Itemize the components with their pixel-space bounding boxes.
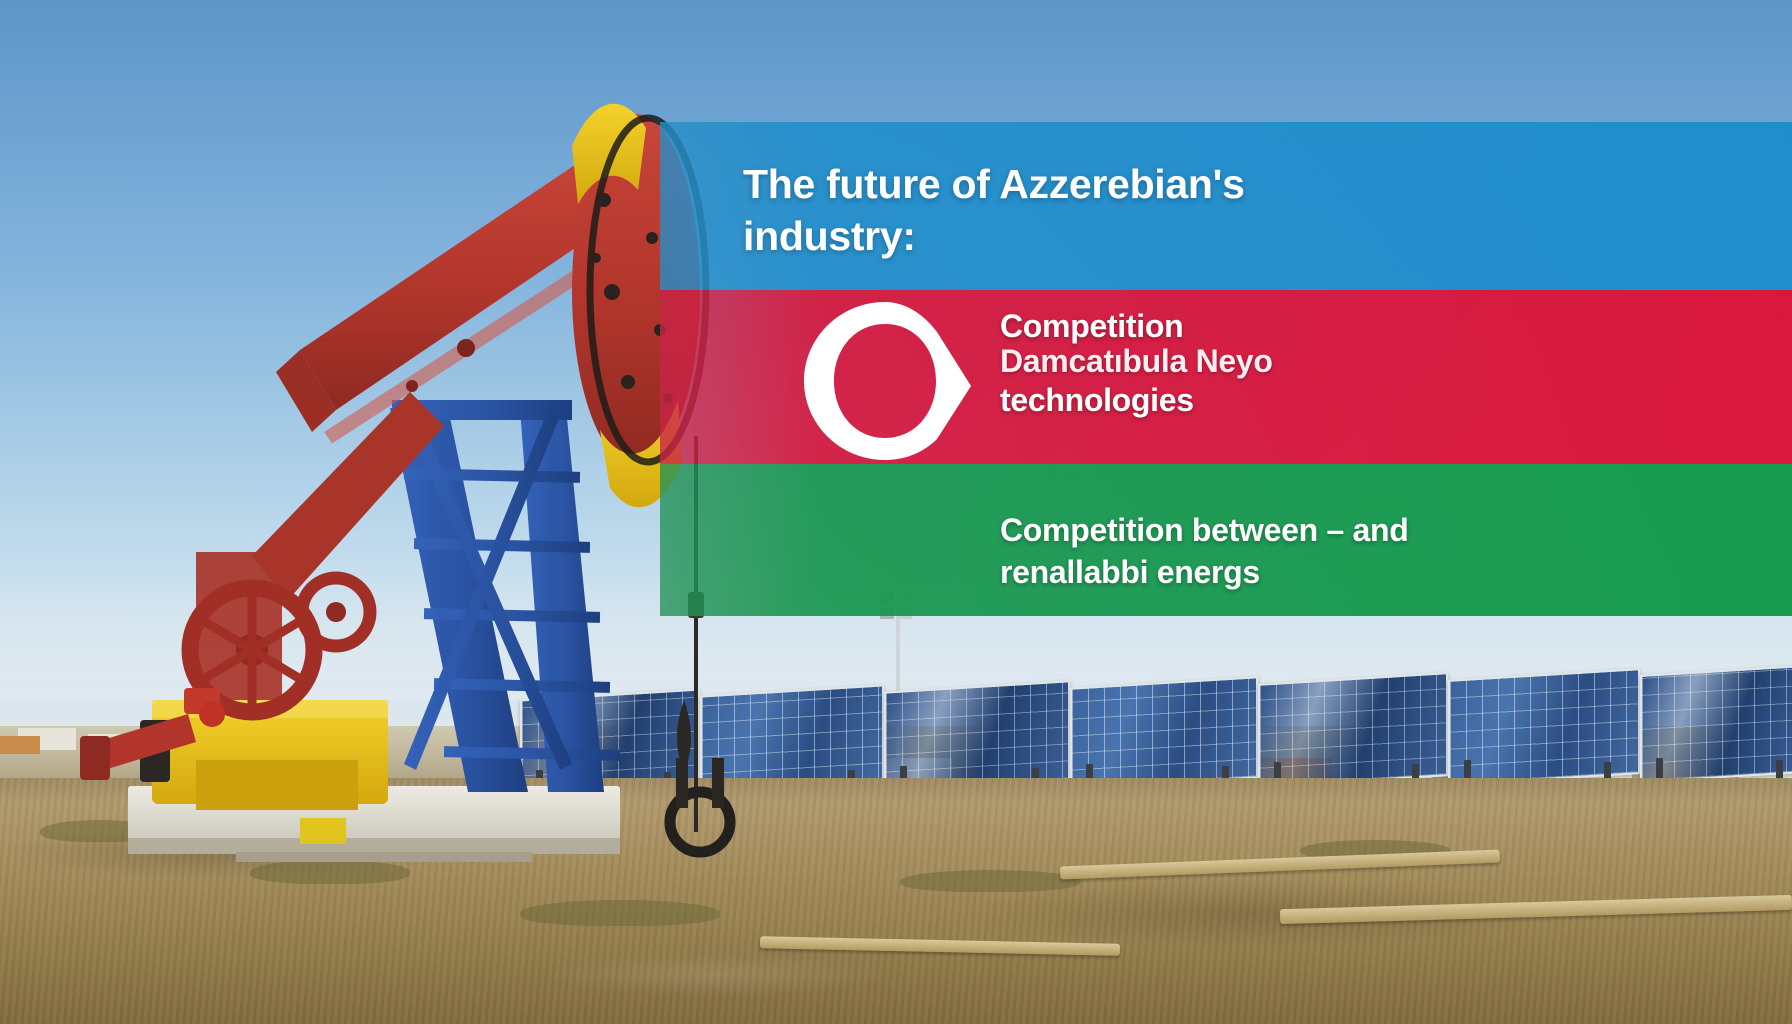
crescent-star-emblem-icon <box>788 298 978 464</box>
distant-building <box>212 732 282 754</box>
red-band-line-3: technologies <box>1000 381 1760 420</box>
green-band-text: Competition between – and renallabbi ene… <box>1000 510 1740 593</box>
green-band-line-2: renallabbi energs <box>1000 552 1740 594</box>
red-band-text: Competition Damcatıbula Neyo technologie… <box>1000 307 1760 420</box>
banner-title: The future of Azzerebian's industry: <box>743 158 1383 262</box>
ground-scrub <box>40 820 160 842</box>
distant-building <box>140 738 202 754</box>
foreground-dirt <box>0 778 1792 1024</box>
green-band-line-1: Competition between – and <box>1000 510 1740 552</box>
ground-scrub <box>520 900 720 926</box>
screenshot-canvas: The future of Azzerebian's industry: Com… <box>0 0 1792 1024</box>
ground-scrub <box>900 870 1080 892</box>
ground-scrub <box>250 860 410 884</box>
flag-banner-overlay: The future of Azzerebian's industry: Com… <box>660 122 1792 616</box>
red-band-line-1: Competition <box>1000 308 1183 344</box>
red-band-line-2: Damcatıbula Neyo <box>1000 342 1760 381</box>
distant-building <box>88 734 134 752</box>
distant-building <box>292 740 346 754</box>
distant-building <box>0 736 40 754</box>
